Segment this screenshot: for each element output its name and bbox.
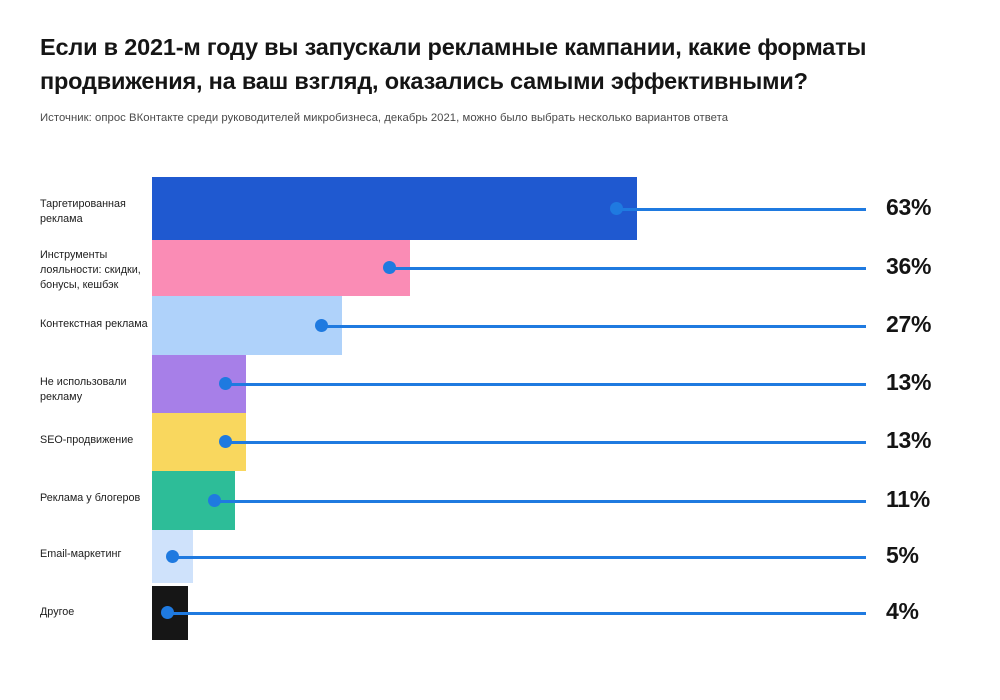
chart-row: Другое4%	[0, 586, 1000, 640]
leader-line	[171, 612, 866, 615]
leader-line	[620, 208, 866, 211]
category-label: Реклама у блогеров	[40, 491, 148, 506]
category-label: Другое	[40, 605, 148, 620]
leader-line	[218, 500, 866, 503]
leader-line	[393, 267, 866, 270]
chart-row: Не использовали рекламу13%	[0, 355, 1000, 413]
chart-row: Инструменты лояльности: скидки, бонусы, …	[0, 240, 1000, 296]
leader-line	[229, 441, 866, 444]
bar-segment[interactable]	[152, 296, 342, 355]
value-marker-dot	[219, 435, 232, 448]
category-label: SEO-продвижение	[40, 433, 148, 448]
bar-segment[interactable]	[152, 240, 410, 296]
chart-row: Контекстная реклама27%	[0, 296, 1000, 355]
value-label: 11%	[886, 486, 930, 513]
chart-row: SEO-продвижение13%	[0, 413, 1000, 471]
chart-row: Email-маркетинг5%	[0, 530, 1000, 583]
value-marker-dot	[166, 550, 179, 563]
category-label: Не использовали рекламу	[40, 375, 148, 405]
value-label: 13%	[886, 369, 931, 396]
value-label: 13%	[886, 427, 931, 454]
leader-line	[229, 383, 866, 386]
category-label: Контекстная реклама	[40, 317, 148, 332]
value-marker-dot	[208, 494, 221, 507]
bar-segment[interactable]	[152, 177, 637, 240]
category-label: Таргетированная реклама	[40, 197, 148, 227]
category-label: Инструменты лояльности: скидки, бонусы, …	[40, 248, 148, 293]
value-marker-dot	[383, 261, 396, 274]
value-marker-dot	[315, 319, 328, 332]
value-marker-dot	[161, 606, 174, 619]
value-label: 27%	[886, 311, 931, 338]
bar-chart: Таргетированная реклама63%Инструменты ло…	[0, 0, 1000, 700]
value-label: 4%	[886, 598, 919, 625]
value-marker-dot	[610, 202, 623, 215]
chart-row: Реклама у блогеров11%	[0, 471, 1000, 530]
value-label: 63%	[886, 194, 931, 221]
chart-row: Таргетированная реклама63%	[0, 177, 1000, 240]
chart-page: Если в 2021-м году вы запускали рекламны…	[0, 0, 1000, 700]
value-label: 36%	[886, 253, 931, 280]
leader-line	[325, 325, 866, 328]
category-label: Email-маркетинг	[40, 547, 148, 562]
value-label: 5%	[886, 542, 919, 569]
value-marker-dot	[219, 377, 232, 390]
leader-line	[176, 556, 866, 559]
